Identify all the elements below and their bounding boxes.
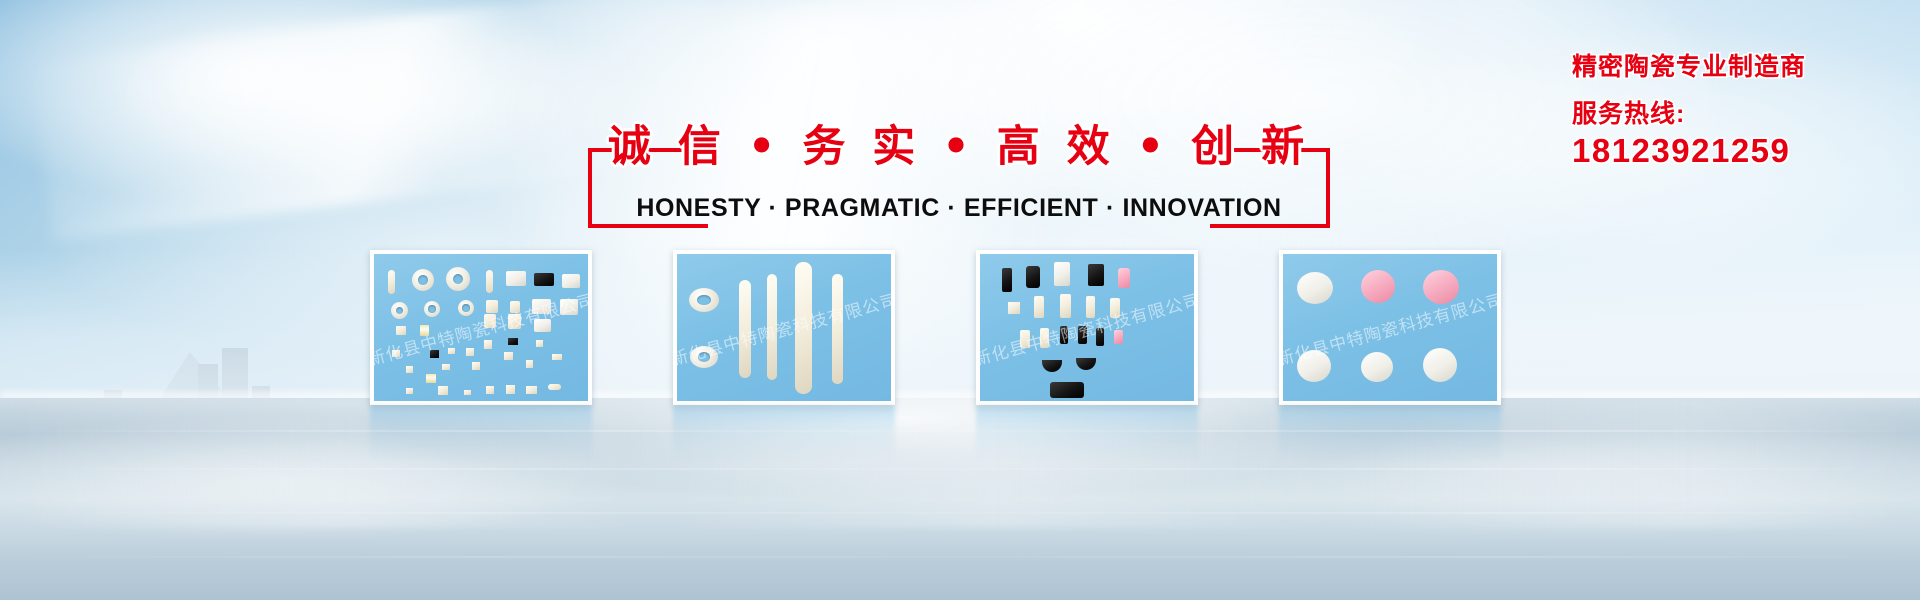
slogan-english: HONESTY · PRAGMATIC · EFFICIENT · INNOVA… bbox=[588, 194, 1330, 223]
slogan-chinese: 诚 信 • 务 实 • 高 效 • 创 新 bbox=[588, 112, 1330, 174]
slogan-block: 诚 信 • 务 实 • 高 效 • 创 新 HONESTY · PRAGMATI… bbox=[588, 148, 1330, 228]
ripple-line bbox=[0, 430, 1920, 432]
bracket-right-bottom bbox=[1210, 224, 1330, 228]
ripple-line bbox=[0, 556, 1920, 558]
product-panel-2[interactable]: 新化县中特陶瓷科技有限公司 bbox=[673, 250, 895, 405]
product-panel-4[interactable]: 新化县中特陶瓷科技有限公司 bbox=[1279, 250, 1501, 405]
product-panel-2-image: 新化县中特陶瓷科技有限公司 bbox=[677, 254, 891, 401]
bracket-left-bottom bbox=[588, 224, 708, 228]
hotline-label: 服务热线: bbox=[1572, 99, 1902, 129]
promo-banner: 诚 信 • 务 实 • 高 效 • 创 新 HONESTY · PRAGMATI… bbox=[0, 0, 1920, 600]
ground-reflection bbox=[0, 398, 1920, 528]
contact-block: 精密陶瓷专业制造商 服务热线: 18123921259 bbox=[1572, 52, 1902, 170]
ripple-line bbox=[0, 468, 1920, 470]
ripple-line bbox=[0, 512, 1920, 514]
product-panel-3[interactable]: 新化县中特陶瓷科技有限公司 bbox=[976, 250, 1198, 405]
hotline-phone-number[interactable]: 18123921259 bbox=[1572, 132, 1902, 170]
product-panel-1-image: 新化县中特陶瓷科技有限公司 bbox=[374, 254, 588, 401]
product-panel-1[interactable]: 新化县中特陶瓷科技有限公司 bbox=[370, 250, 592, 405]
product-panel-3-image: 新化县中特陶瓷科技有限公司 bbox=[980, 254, 1194, 401]
product-gallery: 新化县中特陶瓷科技有限公司 新化县中特陶瓷科技有限公司 bbox=[370, 250, 1590, 410]
company-tagline: 精密陶瓷专业制造商 bbox=[1572, 52, 1902, 82]
product-panel-4-image: 新化县中特陶瓷科技有限公司 bbox=[1283, 254, 1497, 401]
